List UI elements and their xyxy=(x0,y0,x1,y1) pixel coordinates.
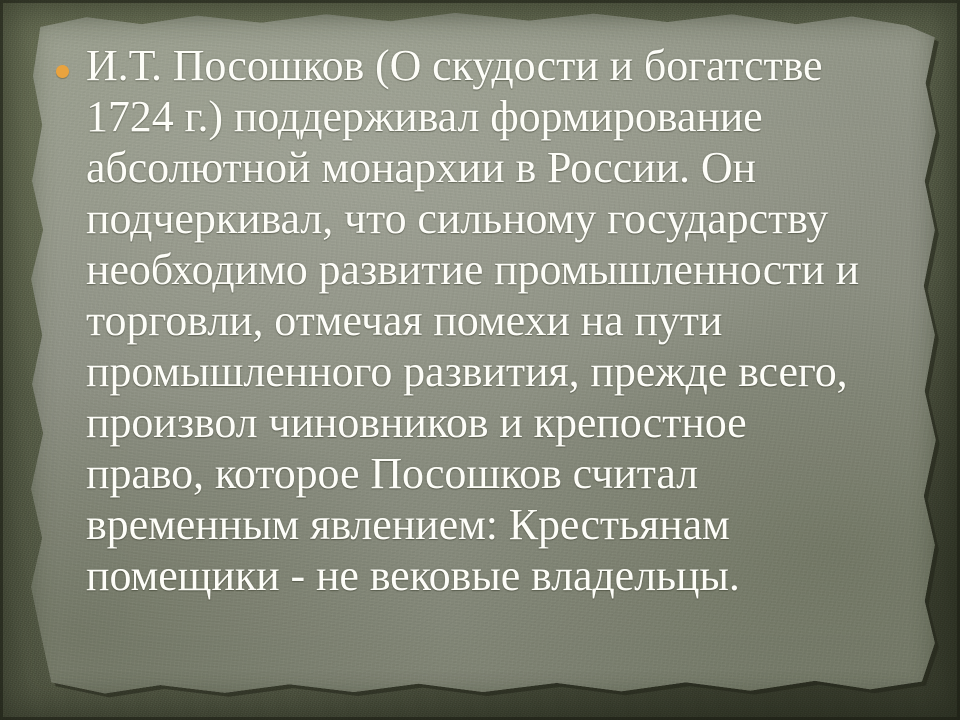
bullet-list-item[interactable]: И.Т. Посошков (О скудости и богатстве 17… xyxy=(56,40,902,601)
text-line: промышленного развития, прежде всего, xyxy=(86,346,902,397)
text-line: абсолютной монархии в России. Он xyxy=(86,142,902,193)
text-line: право, которое Посошков считал xyxy=(86,448,902,499)
text-line: И.Т. Посошков (О скудости и богатстве xyxy=(86,40,902,91)
text-line: временным явлением: Крестьянам xyxy=(86,499,902,550)
text-line: торговли, отмечая помехи на пути xyxy=(86,295,902,346)
text-line: необходимо развитие промышленности и xyxy=(86,244,902,295)
text-line: подчеркивал, что сильному государству xyxy=(86,193,902,244)
bullet-dot-icon xyxy=(56,65,69,78)
text-line: произвол чиновников и крепостное xyxy=(86,397,902,448)
bullet-paragraph: И.Т. Посошков (О скудости и богатстве 17… xyxy=(86,40,902,601)
text-line: помещики - не вековые владельцы. xyxy=(86,550,902,601)
text-line: 1724 г.) поддерживал формирование xyxy=(86,91,902,142)
slide-content: И.Т. Посошков (О скудости и богатстве 17… xyxy=(0,0,960,720)
presentation-slide: И.Т. Посошков (О скудости и богатстве 17… xyxy=(0,0,960,720)
